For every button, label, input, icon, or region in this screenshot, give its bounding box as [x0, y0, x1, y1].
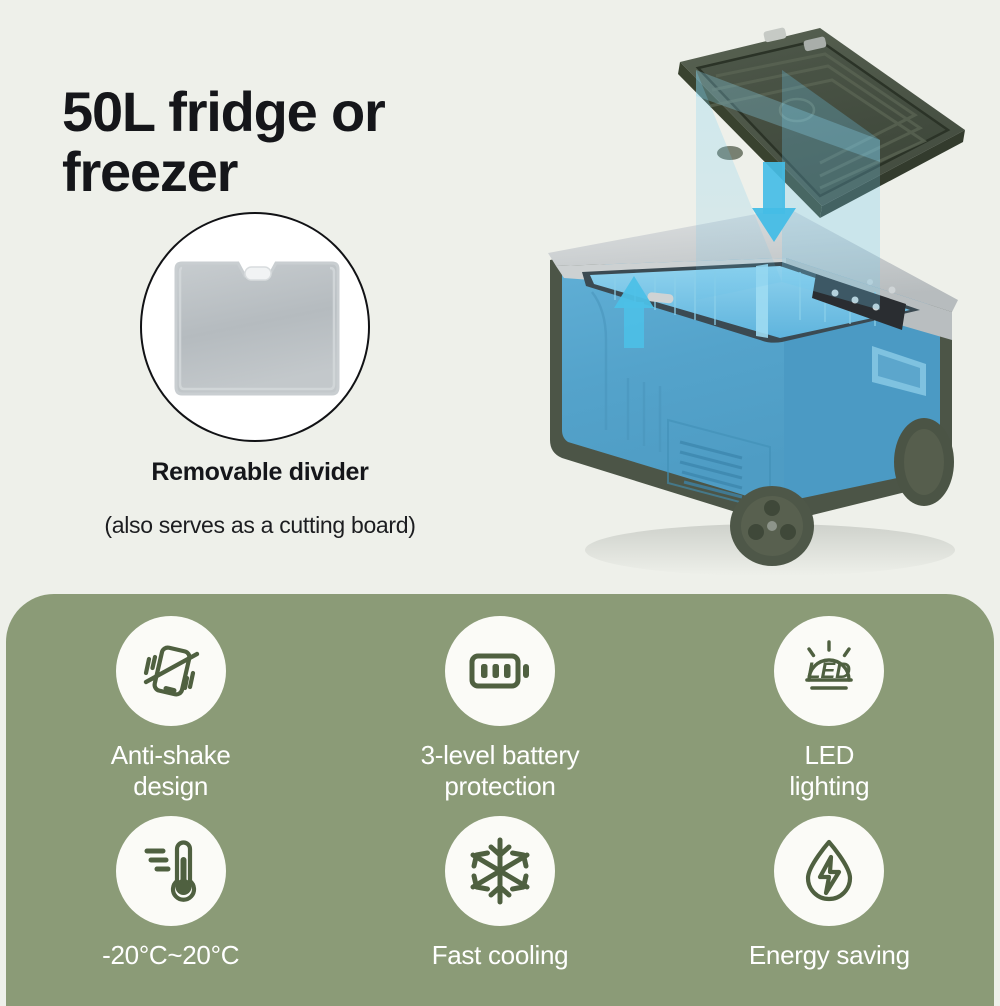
feature-temperature-range[interactable]: -20°C~20°C [6, 816, 335, 971]
anti-shake-icon [135, 635, 207, 707]
feature-anti-shake[interactable]: Anti-shake design [6, 616, 335, 801]
feature-fast-cooling[interactable]: Fast cooling [335, 816, 664, 971]
leaf-bolt-icon-circle [774, 816, 884, 926]
battery-icon [464, 635, 536, 707]
feature-row-top: Anti-shake design 3-level battery protec… [6, 616, 994, 801]
feature-label: LED lighting [789, 740, 869, 801]
led-icon-circle: LED [774, 616, 884, 726]
snowflake-icon-circle [445, 816, 555, 926]
snowflake-icon [463, 834, 537, 908]
headline-line-2: freezer [62, 142, 482, 202]
page-title: 50L fridge or freezer [62, 82, 482, 203]
top-section: 50L fridge or freezer Removable divider … [0, 0, 1000, 600]
svg-text:LED: LED [807, 658, 851, 683]
battery-icon-circle [445, 616, 555, 726]
divider-caption: Removable divider [140, 458, 380, 487]
feature-led-lighting[interactable]: LED LED lighting [665, 616, 994, 801]
product-image-portable-fridge [520, 10, 1000, 590]
leaf-bolt-icon [793, 835, 865, 907]
divider-circle [140, 212, 370, 442]
headline-line-1: 50L fridge or [62, 82, 482, 142]
feature-battery-protection[interactable]: 3-level battery protection [335, 616, 664, 801]
led-icon: LED [792, 634, 866, 708]
feature-panel: Anti-shake design 3-level battery protec… [6, 594, 994, 1006]
cutting-board-divider-icon [169, 260, 345, 398]
feature-energy-saving[interactable]: Energy saving [665, 816, 994, 971]
feature-row-bottom: -20°C~20°C [6, 816, 994, 971]
feature-label: 3-level battery protection [421, 740, 580, 801]
feature-label: Fast cooling [432, 940, 569, 971]
feature-label: Energy saving [749, 940, 910, 971]
thermometer-icon [135, 835, 207, 907]
removable-divider-callout: Removable divider (also serves as a cutt… [140, 212, 380, 487]
feature-label: -20°C~20°C [102, 940, 239, 971]
feature-label: Anti-shake design [111, 740, 231, 801]
thermometer-icon-circle [116, 816, 226, 926]
divider-subcaption: (also serves as a cutting board) [65, 512, 455, 539]
anti-shake-icon-circle [116, 616, 226, 726]
